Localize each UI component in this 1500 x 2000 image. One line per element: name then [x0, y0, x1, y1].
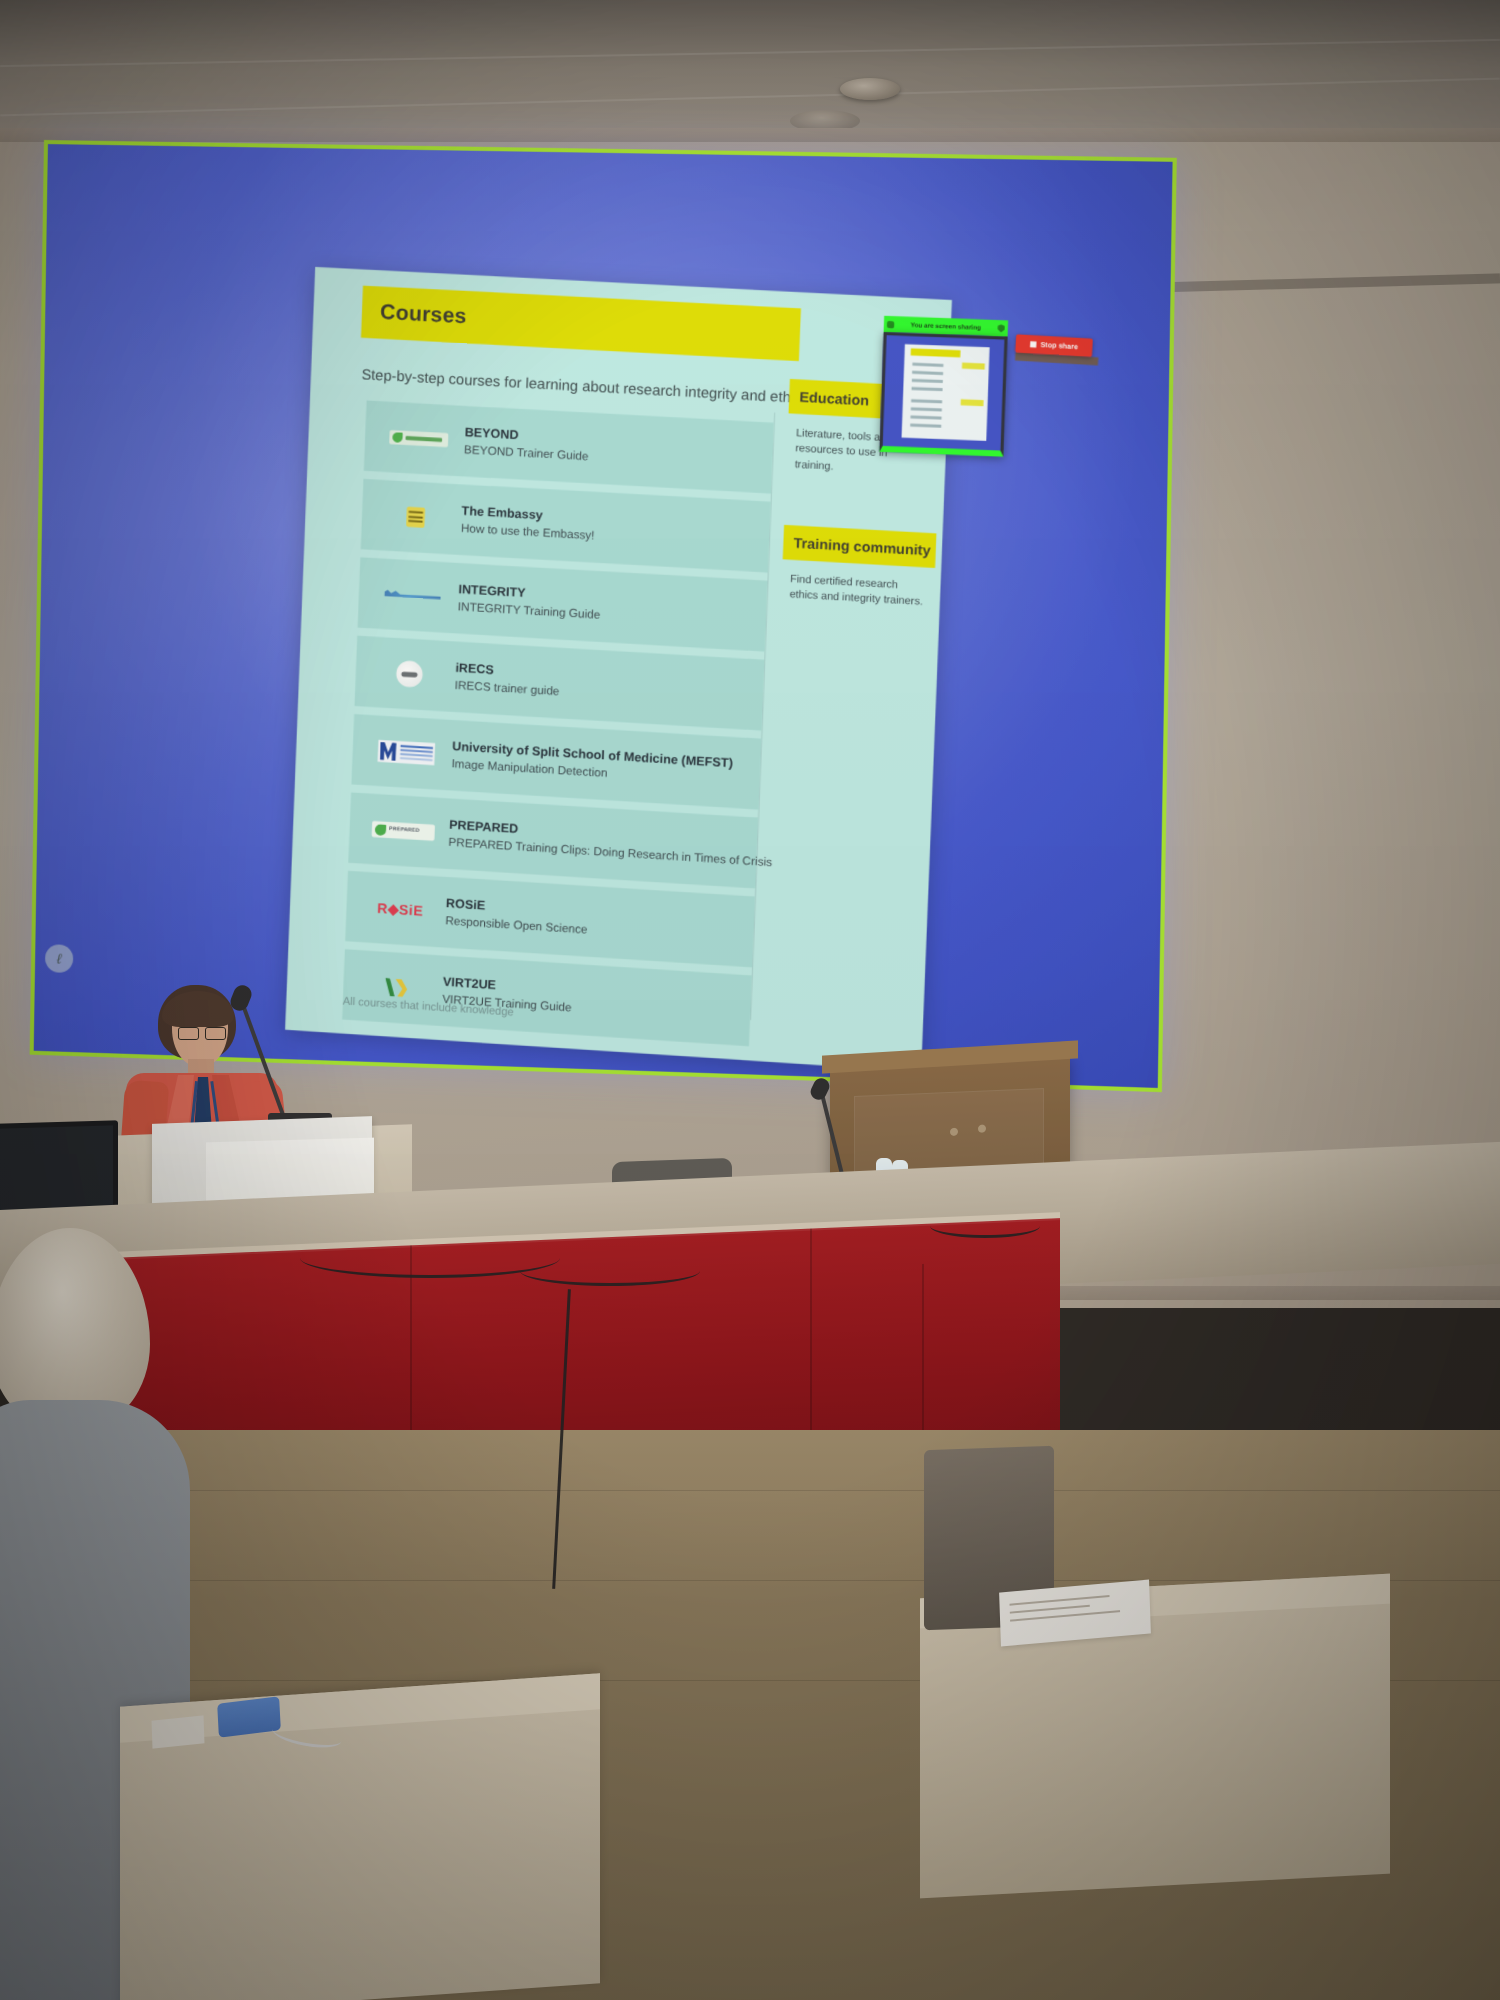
- mefst-logo-icon: [366, 733, 446, 772]
- notebook-on-desk: [152, 1715, 205, 1748]
- projection-screen: Courses Step-by-step courses for learnin…: [30, 140, 1177, 1092]
- slide-corner-badge: ℓ: [45, 944, 73, 973]
- mini-text-line: [911, 415, 942, 419]
- mini-text-line: [912, 363, 943, 367]
- cable: [930, 1214, 1040, 1238]
- mini-title-band: [911, 348, 961, 357]
- shared-window-preview: [879, 332, 1007, 457]
- mini-text-line: [911, 407, 942, 411]
- slide-intro-text: Step-by-step courses for learning about …: [361, 366, 820, 409]
- ceiling-vent-icon: [840, 78, 900, 100]
- share-indicator-icon: [887, 320, 894, 327]
- projected-slide: Courses Step-by-step courses for learnin…: [285, 267, 952, 1072]
- mini-text-line: [911, 399, 942, 403]
- slide-title-band: Courses: [361, 286, 801, 362]
- list-item[interactable]: University of Split School of Medicine (…: [351, 714, 761, 809]
- microphone-icon: [228, 983, 254, 1014]
- mini-text-line: [912, 371, 943, 375]
- stop-share-label: Stop share: [1040, 341, 1078, 350]
- education-heading-label: Education: [799, 389, 869, 409]
- beyond-logo-icon: [379, 419, 459, 458]
- irecs-logo-icon: [369, 655, 449, 694]
- screen-share-overlay: You are screen sharing: [879, 332, 1007, 457]
- stop-square-icon: [1030, 341, 1037, 347]
- mini-text-line: [912, 379, 943, 383]
- course-list: BEYOND BEYOND Trainer Guide The Embassy …: [342, 401, 774, 1055]
- rosie-logo-icon: R◆SiE: [360, 890, 440, 929]
- prepared-logo-icon: [363, 811, 443, 850]
- wall-rail: [1150, 273, 1500, 292]
- training-community-panel-body: Find certified research ethics and integ…: [780, 559, 935, 629]
- mini-text-line: [912, 387, 943, 391]
- glasses-icon: [178, 1027, 226, 1038]
- shield-icon: [997, 324, 1005, 332]
- microphone-arm: [241, 1004, 286, 1118]
- course-subtitle: BEYOND Trainer Guide: [464, 443, 589, 464]
- mini-text-line: [910, 424, 941, 428]
- mini-button: [962, 363, 985, 370]
- list-item[interactable]: BEYOND BEYOND Trainer Guide: [364, 401, 774, 494]
- lecture-hall-photo: Courses Step-by-step courses for learnin…: [0, 0, 1500, 2000]
- page-title: Courses: [380, 301, 467, 330]
- list-item[interactable]: INTEGRITY INTEGRITY Training Guide: [358, 557, 768, 651]
- cable: [520, 1256, 700, 1286]
- integrity-logo-icon: [372, 576, 452, 615]
- shared-window-content: [902, 344, 990, 441]
- training-community-heading-label: Training community: [793, 535, 931, 559]
- lectern-mic-head-icon: [808, 1076, 832, 1103]
- course-subtitle: IRECS trainer guide: [454, 679, 559, 699]
- list-item[interactable]: The Embassy How to use the Embassy!: [361, 479, 771, 573]
- screen-share-status-label: You are screen sharing: [897, 321, 994, 332]
- embassy-logo-icon: [376, 498, 456, 537]
- list-item[interactable]: VIRT2UE VIRT2UE Training Guide: [342, 949, 752, 1046]
- mini-button: [961, 399, 984, 406]
- list-item[interactable]: iRECS IRECS trainer guide: [355, 636, 765, 731]
